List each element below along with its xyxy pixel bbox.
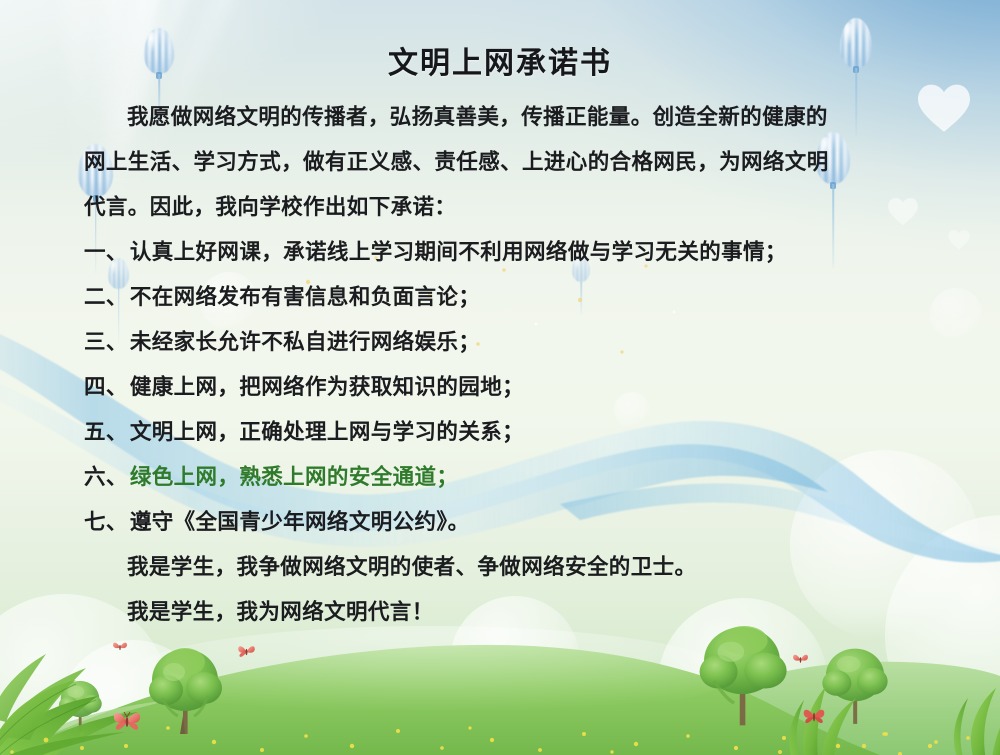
pledge-number-5: 五、	[84, 420, 128, 444]
pledge-item-2: 二、不在网络发布有害信息和负面言论；	[84, 275, 894, 320]
intro-line-3: 代言。因此，我向学校作出如下承诺：	[84, 195, 456, 219]
pledge-number-3: 三、	[84, 330, 128, 354]
page-title: 文明上网承诺书	[0, 38, 1000, 82]
document-body: 我愿做网络文明的传播者，弘扬真善美，传播正能量。创造全新的健康的 网上生活、学习…	[84, 95, 894, 635]
intro-line-2: 网上生活、学习方式，做有正义感、责任感、上进心的合格网民，为网络文明	[84, 150, 829, 174]
closing-line-2: 我是学生，我为网络文明代言！	[84, 590, 894, 635]
poster-canvas: 文明上网承诺书 我愿做网络文明的传播者，弘扬真善美，传播正能量。创造全新的健康的…	[0, 0, 1000, 755]
pledge-item-5: 五、文明上网，正确处理上网与学习的关系；	[84, 410, 894, 455]
pledge-text-1: 认真上好网课，承诺线上学习期间不利用网络做与学习无关的事情；	[130, 240, 787, 264]
pledge-text-4: 健康上网，把网络作为获取知识的园地；	[130, 375, 524, 399]
closing-line-1: 我是学生，我争做网络文明的使者、争做网络安全的卫士。	[84, 545, 894, 590]
intro-paragraph-cont: 网上生活、学习方式，做有正义感、责任感、上进心的合格网民，为网络文明	[84, 140, 894, 185]
pledge-number-6: 六、	[84, 465, 128, 489]
pledge-item-6: 六、绿色上网，熟悉上网的安全通道；	[84, 455, 894, 500]
pledge-number-7: 七、	[84, 510, 128, 534]
pledge-text-2: 不在网络发布有害信息和负面言论；	[130, 285, 480, 309]
pledge-text-3: 未经家长允许不私自进行网络娱乐；	[130, 330, 480, 354]
pledge-item-4: 四、健康上网，把网络作为获取知识的园地；	[84, 365, 894, 410]
pledge-text-7: 遵守《全国青少年网络文明公约》。	[130, 510, 470, 534]
intro-line-1: 我愿做网络文明的传播者，弘扬真善美，传播正能量。创造全新的健康的	[127, 105, 828, 129]
document-content: 文明上网承诺书 我愿做网络文明的传播者，弘扬真善美，传播正能量。创造全新的健康的…	[0, 0, 1000, 755]
intro-paragraph: 我愿做网络文明的传播者，弘扬真善美，传播正能量。创造全新的健康的	[84, 95, 894, 140]
intro-paragraph-cont: 代言。因此，我向学校作出如下承诺：	[84, 185, 894, 230]
pledge-item-3: 三、未经家长允许不私自进行网络娱乐；	[84, 320, 894, 365]
pledge-item-7: 七、遵守《全国青少年网络文明公约》。	[84, 500, 894, 545]
pledge-text-5: 文明上网，正确处理上网与学习的关系；	[130, 420, 524, 444]
pledge-text-6: 绿色上网，熟悉上网的安全通道；	[130, 465, 459, 489]
pledge-number-1: 一、	[84, 240, 128, 264]
pledge-item-1: 一、认真上好网课，承诺线上学习期间不利用网络做与学习无关的事情；	[84, 230, 894, 275]
pledge-number-4: 四、	[84, 375, 128, 399]
pledge-number-2: 二、	[84, 285, 128, 309]
